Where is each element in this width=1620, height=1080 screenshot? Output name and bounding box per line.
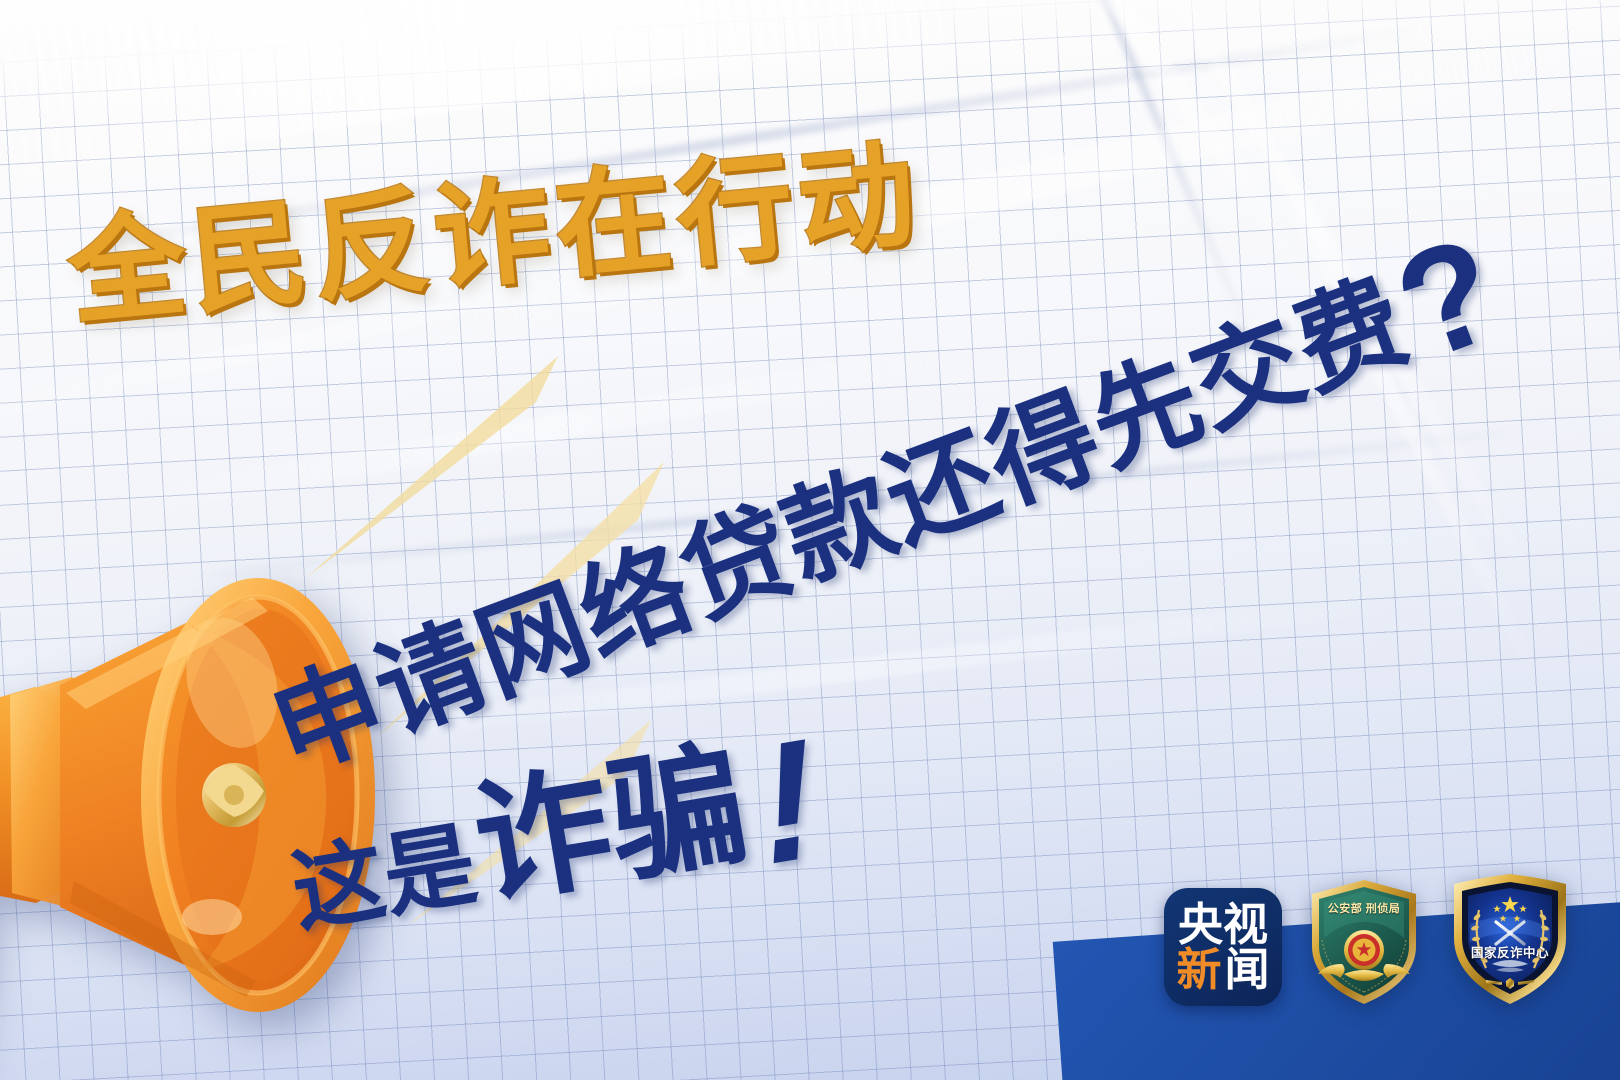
cctv-line-2: 新 闻	[1176, 947, 1269, 992]
anti-fraud-poster: 全民反诈在行动 申请网络贷款还得先交费? 这是诈骗! 央视 新 闻	[0, 0, 1620, 1080]
paper-top-blank-band	[0, 0, 1620, 140]
cctv-line-2-plain: 闻	[1225, 947, 1270, 992]
cctv-line-1-text: 央视	[1178, 902, 1268, 947]
logo-mps-criminal-investigation[interactable]: 公安部 刑侦局	[1304, 878, 1424, 1006]
slogan-line-2-prefix: 这是	[285, 813, 483, 944]
logo-national-anti-fraud-center[interactable]: 国家反诈中心	[1446, 872, 1574, 1006]
cctv-line-2-accent: 新	[1176, 947, 1221, 992]
logo-cctv-news[interactable]: 央视 新 闻	[1164, 888, 1282, 1006]
logo-row: 央视 新 闻	[1164, 872, 1574, 1006]
cctv-line-1: 央视	[1178, 902, 1268, 947]
exclamation-mark-icon: !	[756, 710, 822, 893]
